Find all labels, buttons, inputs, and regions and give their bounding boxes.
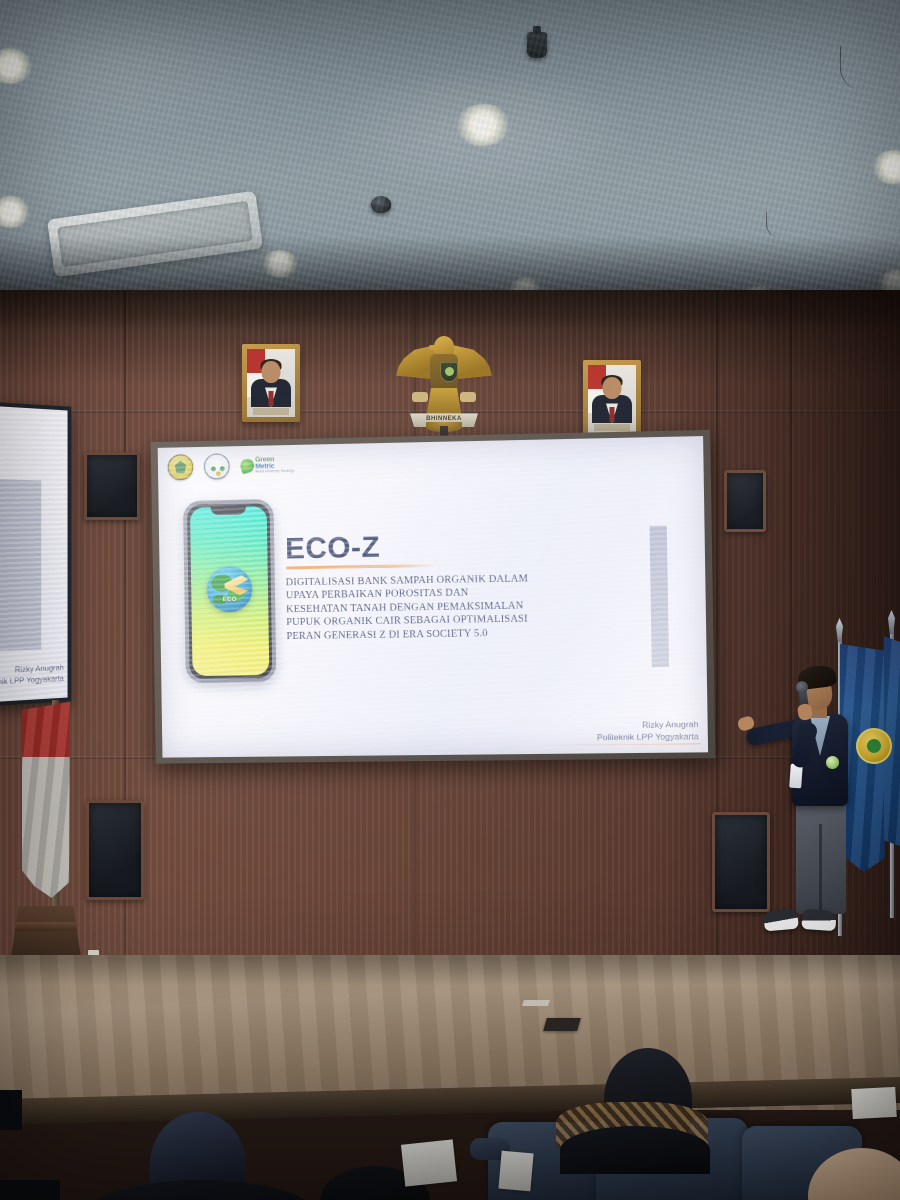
ceiling-wire: [840, 46, 862, 90]
ceiling-downlight: [0, 48, 32, 84]
portrait-tie: [269, 391, 274, 406]
institution-flag-emblem: [856, 728, 892, 764]
leaf-icon: [239, 457, 257, 475]
portrait-nameplate: [594, 424, 630, 431]
presenter-shoe-right: [801, 909, 836, 931]
presenter-trousers: [796, 802, 846, 914]
presenter: [740, 660, 870, 960]
attendee-silhouette: [0, 1180, 60, 1200]
slide-logo-bar: Green Metric World University Rankings: [168, 452, 295, 480]
portrait-inner: [588, 365, 636, 433]
slide-author-affiliation: Politeknik LPP Yogyakarta: [597, 731, 699, 744]
garuda-pancasila-emblem: BHINNEKA TUNGGAL IKA: [398, 330, 490, 442]
cable-strip: [522, 1000, 550, 1006]
portrait-nameplate: [253, 408, 289, 415]
vice-president-portrait: [583, 360, 641, 438]
projection-screen: Green Metric World University Rankings E…: [158, 436, 708, 758]
wall-speaker: [724, 470, 766, 532]
paper-sheet: [401, 1139, 457, 1186]
green-metric-tagline: World University Rankings: [255, 470, 294, 474]
phone-notch: [211, 507, 247, 516]
slide-accent-bar: [650, 526, 670, 667]
ceiling-downlight: [262, 250, 298, 278]
portrait-face: [262, 361, 281, 383]
attendee-shoulders: [560, 1126, 710, 1174]
side-monitor: Rizky Anugrah Politeknik LPP Yogyakarta: [0, 401, 71, 707]
garuda-claw-right: [460, 392, 476, 402]
paper-sheet: [851, 1087, 897, 1119]
slide-author-name: Rizky Anugrah: [597, 719, 699, 732]
ceiling-projector: [527, 32, 547, 58]
slide-subtitle: DIGITALISASI BANK SAMPAH ORGANIK DALAM U…: [286, 571, 625, 643]
indonesia-flag: [22, 702, 70, 898]
dome-security-camera: [371, 196, 391, 213]
president-portrait: [242, 344, 300, 422]
presenter-lapel-pin: [826, 756, 839, 769]
attendee-shoulders: [86, 1180, 316, 1200]
ceiling-shadow: [0, 236, 900, 296]
green-metric-logo: Green Metric World University Rankings: [240, 456, 294, 474]
ceiling: [0, 0, 900, 296]
ceiling-downlight: [0, 196, 30, 228]
ac-cassette-unit: [47, 191, 263, 278]
ceiling-downlight: [872, 150, 900, 184]
eco-app-icon: ECO: [207, 566, 253, 612]
presenter-shoe-left: [763, 909, 799, 932]
institution-ring-logo: [204, 453, 230, 479]
slide-title: ECO-Z: [285, 531, 381, 567]
garuda-shield: [440, 362, 458, 382]
paper-sheet: [498, 1151, 533, 1192]
portrait-face: [603, 377, 622, 399]
ceiling-wire: [766, 212, 780, 238]
projection-screen-frame: Green Metric World University Rankings E…: [151, 430, 716, 764]
phone-mockup: ECO: [183, 499, 276, 683]
university-gold-emblem-logo: [168, 454, 194, 480]
slide-footer-rule: [539, 743, 701, 746]
wall-speaker: [84, 452, 140, 520]
green-metric-wordmark: Green Metric World University Rankings: [255, 456, 295, 474]
app-icon-label: ECO: [207, 597, 252, 604]
portrait-inner: [247, 349, 295, 417]
wall-speaker: [86, 800, 144, 900]
slide-footer: Rizky Anugrah Politeknik LPP Yogyakarta: [597, 719, 699, 743]
side-monitor-scanlines: [0, 405, 68, 702]
presentation-photo-scene: BHINNEKA TUNGGAL IKA: [0, 0, 900, 1200]
ceiling-downlight: [456, 104, 510, 146]
side-monitor-screen: Rizky Anugrah Politeknik LPP Yogyakarta: [0, 405, 68, 702]
desk-object: [0, 1090, 22, 1130]
audience-area: [0, 1030, 900, 1200]
logo-dots: [205, 454, 229, 478]
portrait-tie: [610, 407, 615, 422]
garuda-claw-left: [412, 392, 428, 402]
phone-screen: ECO: [190, 506, 269, 676]
